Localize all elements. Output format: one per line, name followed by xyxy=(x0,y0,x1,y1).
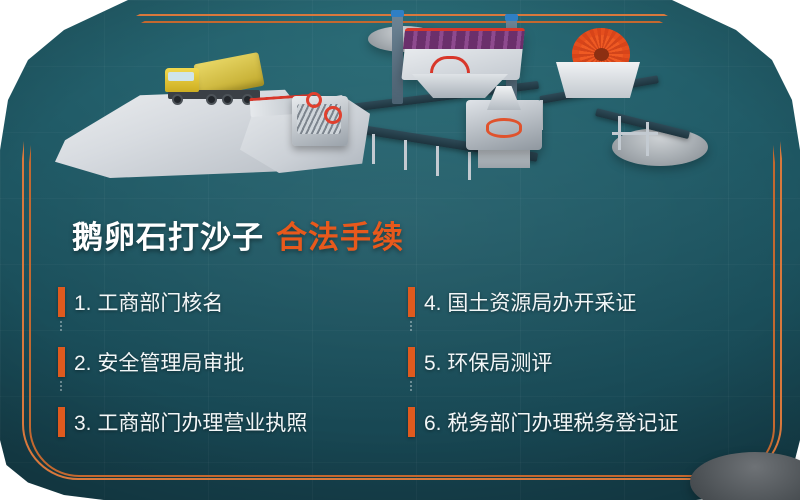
highlight-ring xyxy=(324,106,342,124)
procedure-label: 工商部门办理营业执照 xyxy=(97,412,307,435)
procedure-label: 国土资源局办开采证 xyxy=(447,292,636,315)
procedure-text: 3. 工商部门办理营业执照 xyxy=(74,407,307,437)
list-item[interactable]: 5. 环保局测评 xyxy=(408,332,758,392)
procedure-text: 6. 税务部门办理税务登记证 xyxy=(424,407,678,437)
sand-maker-band xyxy=(486,118,522,138)
dump-truck-window xyxy=(168,72,194,81)
list-item[interactable]: 6. 税务部门办理税务登记证 xyxy=(408,392,758,452)
dotted-separator xyxy=(60,321,62,333)
bullet-marker xyxy=(58,407,65,437)
sand-washer-tub xyxy=(556,62,640,98)
conveyor-leg xyxy=(436,146,439,176)
list-item[interactable]: 4. 国土资源局办开采证 xyxy=(408,272,758,332)
procedure-text: 1. 工商部门核名 xyxy=(74,287,223,317)
poster-canvas: 鹅卵石打沙子合法手续 1. 工商部门核名 4. 国土资源局办开采证 2. 安全管… xyxy=(0,0,800,500)
bullet-marker xyxy=(408,407,415,437)
procedure-row: 1. 工商部门核名 4. 国土资源局办开采证 xyxy=(58,272,758,332)
conveyor-leg xyxy=(468,152,471,180)
conveyor-leg xyxy=(646,122,649,156)
dump-truck-wheel xyxy=(206,94,217,105)
screen-pillar-cap xyxy=(391,10,404,17)
dump-truck-wheel xyxy=(222,94,233,105)
bullet-marker xyxy=(408,347,415,377)
bullet-marker xyxy=(408,287,415,317)
production-line-illustration xyxy=(0,0,800,215)
list-item[interactable]: 3. 工商部门办理营业执照 xyxy=(58,392,408,452)
screen-pillar-cap xyxy=(505,14,518,21)
procedure-row: 3. 工商部门办理营业执照 6. 税务部门办理税务登记证 xyxy=(58,392,758,452)
procedure-label: 安全管理局审批 xyxy=(97,352,244,375)
dotted-separator xyxy=(410,381,412,393)
bullet-marker xyxy=(58,347,65,377)
list-item[interactable]: 1. 工商部门核名 xyxy=(58,272,408,332)
procedure-text: 5. 环保局测评 xyxy=(424,347,552,377)
procedure-number: 2. xyxy=(74,352,92,375)
procedure-number: 5. xyxy=(424,352,442,375)
conveyor-leg xyxy=(372,134,375,164)
procedure-label: 环保局测评 xyxy=(447,352,552,375)
dump-truck-wheel xyxy=(172,94,183,105)
procedure-list: 1. 工商部门核名 4. 国土资源局办开采证 2. 安全管理局审批 5. 环保局… xyxy=(58,272,758,452)
procedure-text: 4. 国土资源局办开采证 xyxy=(424,287,636,317)
screen-support-pillar xyxy=(392,12,403,104)
sand-washer-hub xyxy=(594,48,609,61)
procedure-label: 税务部门办理税务登记证 xyxy=(447,412,678,435)
list-item[interactable]: 2. 安全管理局审批 xyxy=(58,332,408,392)
conveyor-rail xyxy=(612,132,658,135)
procedure-number: 6. xyxy=(424,412,442,435)
procedure-number: 4. xyxy=(424,292,442,315)
procedure-number: 1. xyxy=(74,292,92,315)
title-highlight: 合法手续 xyxy=(276,220,404,255)
vibrating-screen-deck xyxy=(403,28,525,49)
dotted-separator xyxy=(60,381,62,393)
procedure-label: 工商部门核名 xyxy=(97,292,223,315)
conveyor-leg xyxy=(404,140,407,170)
procedure-text: 2. 安全管理局审批 xyxy=(74,347,244,377)
page-title: 鹅卵石打沙子合法手续 xyxy=(72,212,404,257)
bullet-marker xyxy=(58,287,65,317)
dotted-separator xyxy=(410,321,412,333)
procedure-row: 2. 安全管理局审批 5. 环保局测评 xyxy=(58,332,758,392)
highlight-ring xyxy=(306,92,322,108)
title-primary: 鹅卵石打沙子 xyxy=(72,220,264,255)
procedure-number: 3. xyxy=(74,412,92,435)
